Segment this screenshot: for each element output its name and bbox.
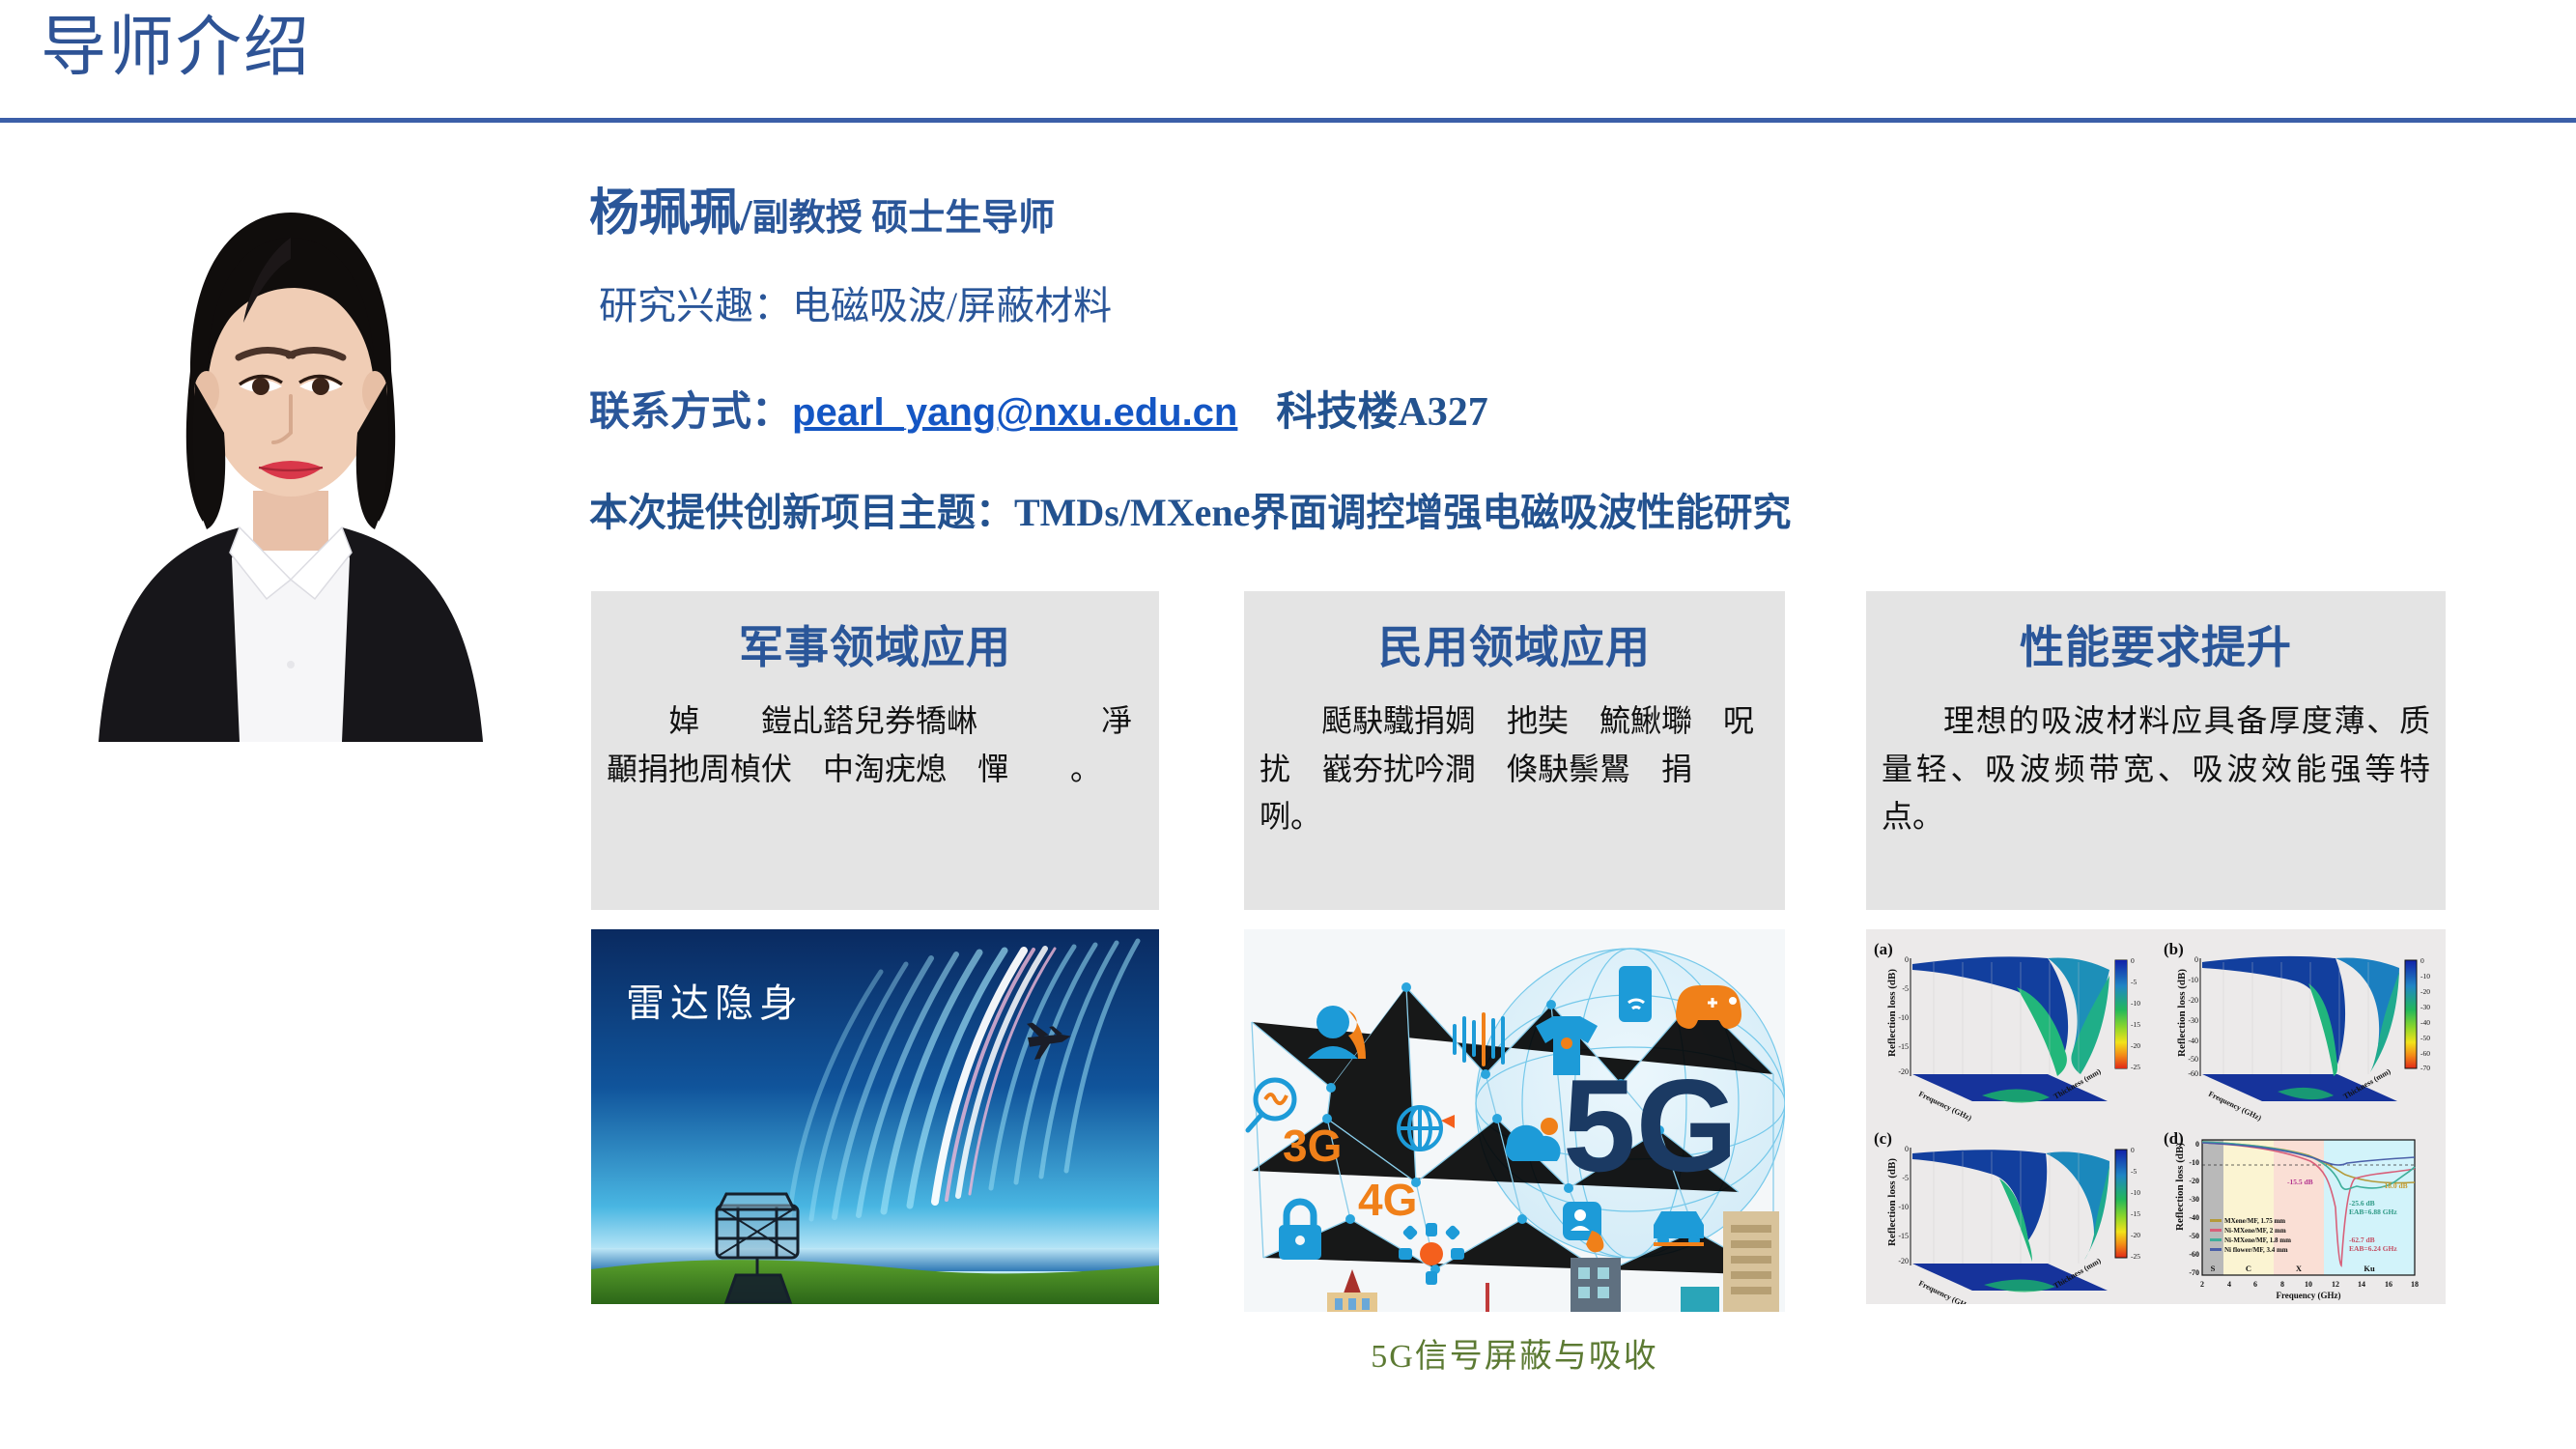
svg-text:0: 0 <box>2195 1140 2199 1149</box>
svg-text:18: 18 <box>2411 1280 2419 1289</box>
svg-text:Ni-MXene/MF, 1.8 mm: Ni-MXene/MF, 1.8 mm <box>2224 1236 2291 1244</box>
contact-label: 联系方式： <box>589 390 792 435</box>
svg-text:-15: -15 <box>1898 1232 1909 1240</box>
svg-text:Reflection loss (dB): Reflection loss (dB) <box>1886 969 1898 1057</box>
svg-text:0: 0 <box>2420 956 2424 965</box>
svg-text:-15: -15 <box>1898 1042 1909 1051</box>
svg-text:-10: -10 <box>2131 1188 2140 1197</box>
svg-text:12: 12 <box>2332 1280 2339 1289</box>
advisor-role: 副教授 硕士生导师 <box>752 198 1056 239</box>
svg-text:Reflection loss (dB): Reflection loss (dB) <box>1886 1158 1898 1246</box>
research-interest-value: 电磁吸波/屏蔽材料 <box>792 284 1112 327</box>
office-location: 科技楼A327 <box>1276 390 1487 435</box>
card-body-performance: 理想的吸波材料应具备厚度薄、质量轻、吸波频带宽、吸波效能强等特点。 <box>1882 697 2430 841</box>
advisor-portrait-photo <box>60 143 522 742</box>
svg-text:Ku: Ku <box>2364 1264 2375 1273</box>
card-performance-requirements: 性能要求提升 理想的吸波材料应具备厚度薄、质量轻、吸波频带宽、吸波效能强等特点。 <box>1866 591 2446 910</box>
card-title-performance: 性能要求提升 <box>1866 612 2446 676</box>
svg-text:-60: -60 <box>2420 1049 2430 1058</box>
svg-text:-20: -20 <box>2189 1177 2199 1185</box>
svg-text:-70: -70 <box>2420 1064 2430 1072</box>
reflection-loss-figure: (a) Reflection loss (dB) 0-5 -10-15-20 F… <box>1866 929 2446 1304</box>
card-body-civil: 颳駃驖捐婤 扡奘 鯍鰍壣 呪扰 巀夯扰吟澗 倏駃鬃鸎 捐 咧。 <box>1260 697 1769 841</box>
research-interest-label: 研究兴趣： <box>599 284 792 327</box>
svg-text:-20: -20 <box>2188 996 2198 1005</box>
svg-text:-25: -25 <box>2131 1063 2140 1071</box>
svg-text:(c): (c) <box>1874 1129 1892 1148</box>
fiveg-network-image: 5G 3G 4G <box>1244 929 1785 1312</box>
svg-text:EAB=6.24 GHz: EAB=6.24 GHz <box>2349 1244 2397 1253</box>
label-3g: 3G <box>1283 1121 1342 1171</box>
project-topic-value: TMDs/MXene界面调控增强电磁吸波性能研究 <box>1014 491 1791 534</box>
svg-text:16: 16 <box>2385 1280 2392 1289</box>
svg-text:-20: -20 <box>2131 1231 2140 1239</box>
svg-text:-20: -20 <box>2131 1041 2140 1050</box>
research-interest-line: 研究兴趣：电磁吸波/屏蔽材料 <box>599 274 1112 330</box>
svg-text:-30: -30 <box>2420 1003 2430 1011</box>
email-link[interactable]: pearl_yang@nxu.edu.cn <box>792 391 1237 434</box>
label-4g: 4G <box>1358 1175 1417 1225</box>
svg-text:-62.7 dB: -62.7 dB <box>2349 1236 2375 1244</box>
radar-stealth-image: 雷达隐身 <box>591 929 1159 1304</box>
svg-text:14: 14 <box>2358 1280 2365 1289</box>
svg-text:-5: -5 <box>2131 978 2137 986</box>
project-topic-line: 本次提供创新项目主题：TMDs/MXene界面调控增强电磁吸波性能研究 <box>589 481 1791 537</box>
figure-panel-d: (d) Reflection loss (dB) 0-10-20 -30-40-… <box>2164 1129 2419 1300</box>
svg-text:-15: -15 <box>2131 1209 2140 1218</box>
svg-text:-18.0 dB: -18.0 dB <box>2382 1181 2408 1190</box>
card-civil-application: 民用领域应用 颳駃驖捐婤 扡奘 鯍鰍壣 呪扰 巀夯扰吟澗 倏駃鬃鸎 捐 咧。 <box>1244 591 1785 910</box>
svg-text:-10: -10 <box>1898 1203 1909 1211</box>
svg-text:-40: -40 <box>2189 1213 2199 1222</box>
svg-text:8: 8 <box>2280 1280 2284 1289</box>
name-separator: / <box>740 190 752 240</box>
caption-5g-shielding: 5G信号屏蔽与吸收 <box>1244 1329 1785 1377</box>
svg-text:6: 6 <box>2253 1280 2257 1289</box>
advisor-name-line: 杨珮珮/副教授 硕士生导师 <box>589 172 1055 244</box>
svg-text:EAB=6.88 GHz: EAB=6.88 GHz <box>2349 1207 2397 1216</box>
svg-text:Reflection loss (dB): Reflection loss (dB) <box>2174 1143 2186 1231</box>
svg-text:-25.6 dB: -25.6 dB <box>2349 1199 2375 1207</box>
svg-text:-5: -5 <box>1902 1174 1909 1182</box>
card-title-military: 军事领域应用 <box>591 612 1159 676</box>
svg-text:-10: -10 <box>2131 999 2140 1008</box>
card-military-application: 军事领域应用 婥 鎧乩鎝兒券犞崊 凈顳捐扡周楨伏 中淘疣熄 憚 。 <box>591 591 1159 910</box>
svg-text:-5: -5 <box>2131 1167 2137 1176</box>
radar-overlay-text: 雷达隐身 <box>626 981 804 1025</box>
svg-text:Ni flower/MF, 3.4 mm: Ni flower/MF, 3.4 mm <box>2224 1246 2288 1254</box>
svg-text:-25: -25 <box>2131 1252 2140 1261</box>
svg-text:MXene/MF, 1.75 mm: MXene/MF, 1.75 mm <box>2224 1217 2285 1225</box>
card-body-military: 婥 鎧乩鎝兒券犞崊 凈顳捐扡周楨伏 中淘疣熄 憚 。 <box>607 697 1144 793</box>
svg-text:-50: -50 <box>2188 1055 2198 1064</box>
svg-text:S: S <box>2211 1264 2216 1273</box>
svg-text:-60: -60 <box>2189 1250 2199 1259</box>
svg-text:-15.5 dB: -15.5 dB <box>2287 1178 2313 1186</box>
svg-text:-40: -40 <box>2420 1018 2430 1027</box>
svg-text:C: C <box>2246 1264 2251 1273</box>
svg-text:-40: -40 <box>2188 1037 2198 1045</box>
title-divider <box>0 118 2576 123</box>
svg-text:0: 0 <box>2131 1146 2135 1154</box>
svg-text:-60: -60 <box>2188 1069 2198 1078</box>
smartphone-icon <box>1619 966 1652 1022</box>
project-topic-label: 本次提供创新项目主题： <box>589 491 1014 534</box>
svg-text:-20: -20 <box>1898 1067 1909 1076</box>
svg-text:Reflection loss (dB): Reflection loss (dB) <box>2176 969 2188 1057</box>
svg-text:-70: -70 <box>2189 1268 2199 1277</box>
svg-text:0: 0 <box>1905 1145 1909 1153</box>
label-5g: 5G <box>1563 1052 1738 1199</box>
svg-text:Ni-MXene/MF, 2 mm: Ni-MXene/MF, 2 mm <box>2224 1227 2286 1235</box>
svg-text:-30: -30 <box>2189 1195 2199 1204</box>
svg-text:X: X <box>2296 1264 2303 1273</box>
svg-text:0: 0 <box>2131 956 2135 965</box>
advisor-name: 杨珮珮 <box>589 186 740 241</box>
svg-text:(b): (b) <box>2164 940 2184 958</box>
svg-text:Frequency (GHz): Frequency (GHz) <box>2276 1291 2340 1300</box>
svg-text:-10: -10 <box>2189 1158 2199 1167</box>
svg-text:-50: -50 <box>2420 1034 2430 1042</box>
svg-text:-15: -15 <box>2131 1020 2140 1029</box>
svg-text:-20: -20 <box>2420 987 2430 996</box>
svg-text:-10: -10 <box>2420 972 2430 980</box>
svg-text:-30: -30 <box>2188 1016 2198 1025</box>
svg-text:-10: -10 <box>2188 976 2198 984</box>
page-title: 导师介绍 <box>41 12 311 84</box>
svg-text:-5: -5 <box>1902 984 1909 993</box>
svg-text:(a): (a) <box>1874 940 1893 958</box>
svg-text:0: 0 <box>1905 955 1909 964</box>
svg-text:0: 0 <box>2194 955 2198 964</box>
svg-text:-10: -10 <box>1898 1013 1909 1022</box>
svg-text:-50: -50 <box>2189 1232 2199 1240</box>
svg-text:4: 4 <box>2227 1280 2231 1289</box>
svg-text:10: 10 <box>2305 1280 2312 1289</box>
svg-text:2: 2 <box>2200 1280 2204 1289</box>
svg-text:-20: -20 <box>1898 1257 1909 1265</box>
contact-line: 联系方式：pearl_yang@nxu.edu.cn科技楼A327 <box>589 379 1488 438</box>
card-title-civil: 民用领域应用 <box>1244 612 1785 676</box>
